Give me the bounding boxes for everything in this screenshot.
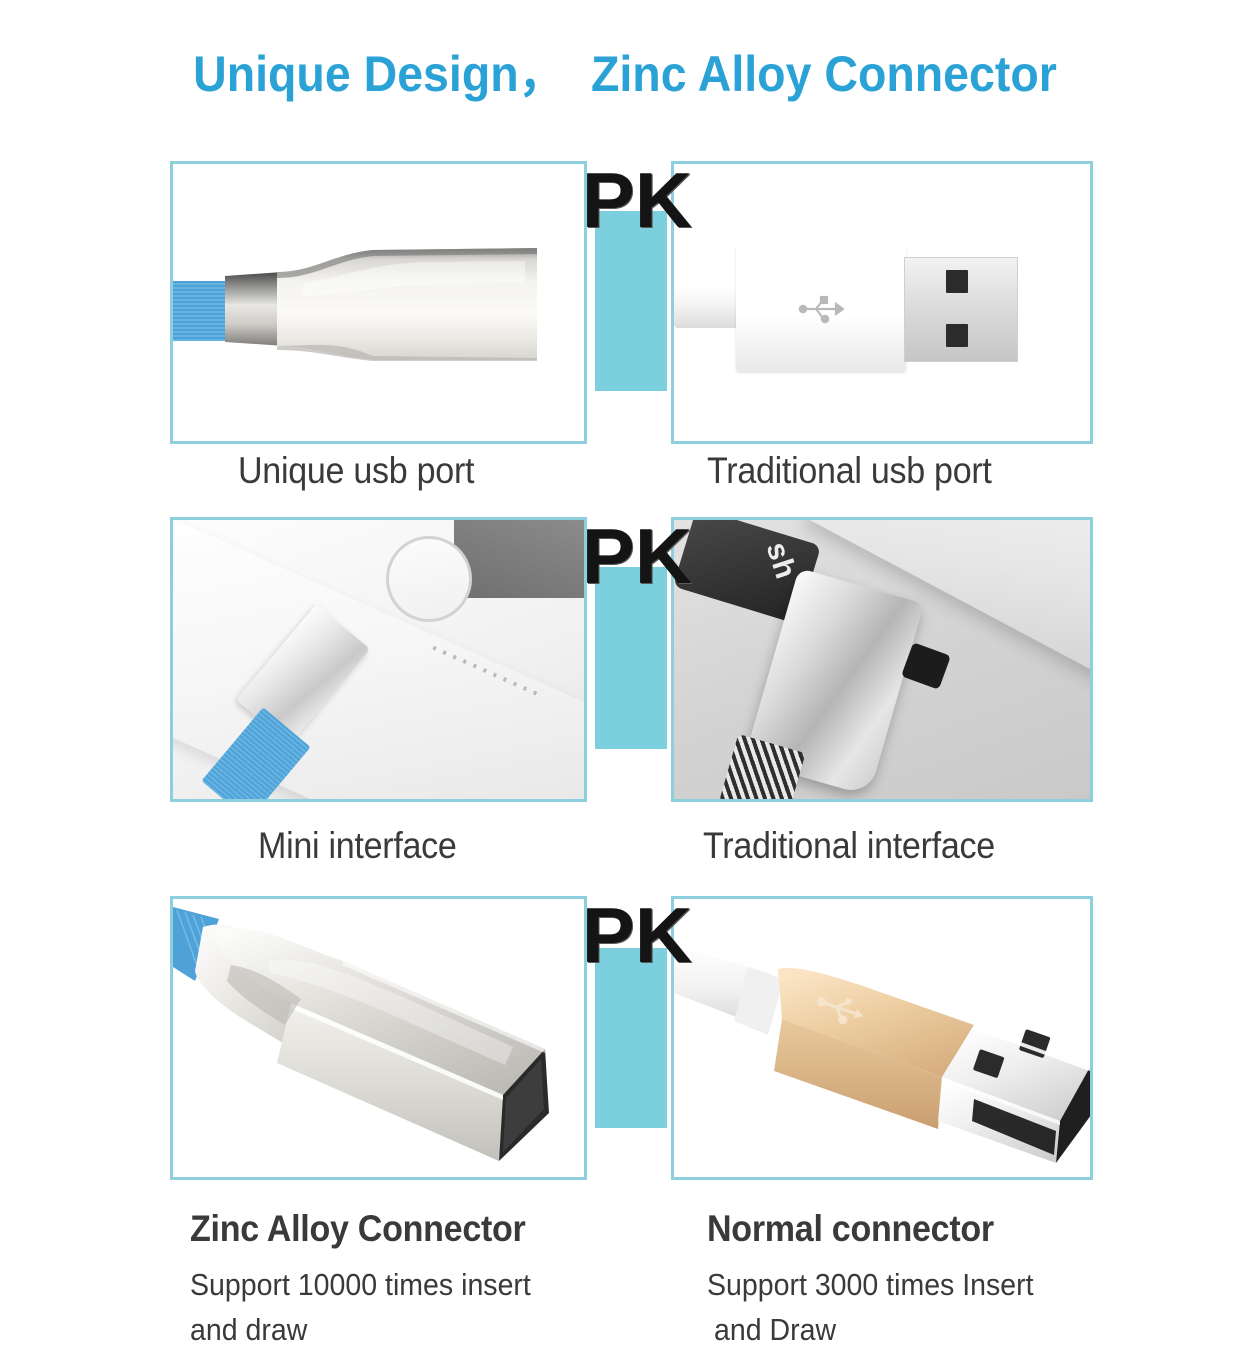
panel-mini-interface [170, 517, 587, 802]
image-unique-usb-port [173, 164, 584, 441]
pk-label-row-2: PK [566, 517, 709, 595]
caption-traditional-usb-port: Traditional usb port [707, 450, 992, 492]
pk-label-row-1: PK [566, 161, 709, 239]
usb-contact-slot-bottom [946, 324, 968, 347]
image-traditional-usb-port [674, 164, 1090, 441]
panel-traditional-interface: sh [671, 517, 1093, 802]
caption-mini-interface: Mini interface [258, 825, 457, 867]
panel-unique-usb-port [170, 161, 587, 444]
image-mini-interface [173, 520, 584, 799]
image-traditional-interface: sh [674, 520, 1090, 799]
panel-zinc-alloy-connector [170, 896, 587, 1180]
subcaption-normal-line1: Support 3000 times Insert [707, 1262, 1034, 1307]
usb-trident-icon [796, 294, 844, 324]
caption-zinc-alloy-connector: Zinc Alloy Connector [190, 1208, 526, 1250]
subcaption-zinc-alloy-line2: and draw [190, 1307, 307, 1352]
image-zinc-alloy-connector [173, 899, 584, 1177]
image-normal-connector [674, 899, 1090, 1177]
panel-normal-connector [671, 896, 1093, 1180]
subcaption-zinc-alloy-line1: Support 10000 times insert [190, 1262, 531, 1307]
caption-unique-usb-port: Unique usb port [238, 450, 474, 492]
caption-normal-connector: Normal connector [707, 1208, 994, 1250]
phone-screen-edge [454, 520, 584, 598]
panel-traditional-usb-port [671, 161, 1093, 444]
subcaption-normal-line2: and Draw [714, 1307, 836, 1352]
pk-label-row-3: PK [566, 896, 709, 974]
usb-contact-slot-top [946, 270, 968, 293]
zinc-connector-3d-shape [173, 899, 587, 1177]
caption-traditional-interface: Traditional interface [703, 825, 995, 867]
gold-usb-connector-shape [674, 899, 1093, 1177]
page-title: Unique Design， Zinc Alloy Connector [44, 34, 1207, 106]
zinc-connector-shape [173, 164, 587, 441]
